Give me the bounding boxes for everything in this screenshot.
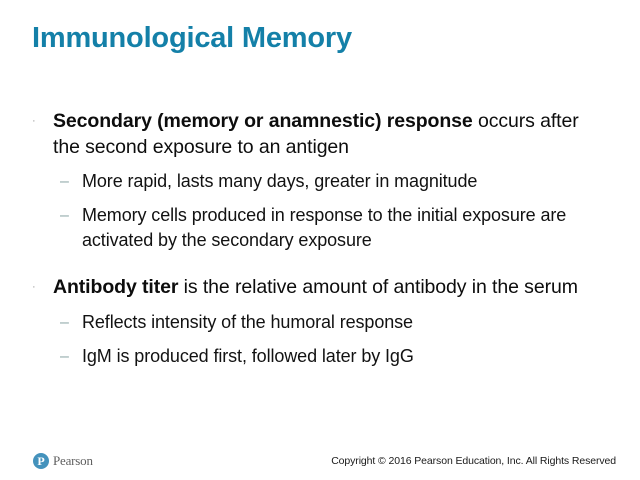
page-title: Immunological Memory bbox=[32, 22, 602, 55]
bullet-text: More rapid, lasts many days, greater in … bbox=[82, 169, 610, 194]
section-spacer bbox=[28, 262, 610, 274]
bullet-level2: – IgM is produced first, followed later … bbox=[28, 344, 610, 369]
bullet-bold-phrase: Secondary (memory or anamnestic) respons… bbox=[53, 110, 473, 132]
bullet-level2: – Memory cells produced in response to t… bbox=[28, 203, 610, 253]
bullet-text: Memory cells produced in response to the… bbox=[82, 203, 610, 253]
pearson-wordmark: Pearson bbox=[53, 453, 93, 469]
bullet-level1: · Secondary (memory or anamnestic) respo… bbox=[28, 108, 610, 160]
bullet-dot-icon: · bbox=[28, 108, 53, 135]
bullet-text: Antibody titer is the relative amount of… bbox=[53, 274, 610, 300]
bullet-dash-icon: – bbox=[60, 169, 82, 194]
bullet-dash-icon: – bbox=[60, 310, 82, 335]
bullet-dash-icon: – bbox=[60, 203, 82, 228]
bullet-text: IgM is produced first, followed later by… bbox=[82, 344, 610, 369]
bullet-dash-icon: – bbox=[60, 344, 82, 369]
slide-footer: P Pearson Copyright © 2016 Pearson Educa… bbox=[0, 436, 640, 480]
bullet-bold-phrase: Antibody titer bbox=[53, 276, 178, 298]
pearson-circle-p-icon: P bbox=[33, 453, 49, 469]
slide-body: · Secondary (memory or anamnestic) respo… bbox=[28, 108, 610, 378]
bullet-level1: · Antibody titer is the relative amount … bbox=[28, 274, 610, 301]
slide: Immunological Memory · Secondary (memory… bbox=[0, 0, 640, 480]
bullet-text: Reflects intensity of the humoral respon… bbox=[82, 310, 610, 335]
pearson-logo: P Pearson bbox=[33, 453, 93, 469]
bullet-text: Secondary (memory or anamnestic) respons… bbox=[53, 108, 610, 160]
bullet-level2: – Reflects intensity of the humoral resp… bbox=[28, 310, 610, 335]
bullet-rest-text: is the relative amount of antibody in th… bbox=[178, 276, 578, 298]
bullet-dot-icon: · bbox=[28, 274, 53, 301]
copyright-text: Copyright © 2016 Pearson Education, Inc.… bbox=[331, 455, 616, 467]
bullet-level2: – More rapid, lasts many days, greater i… bbox=[28, 169, 610, 194]
